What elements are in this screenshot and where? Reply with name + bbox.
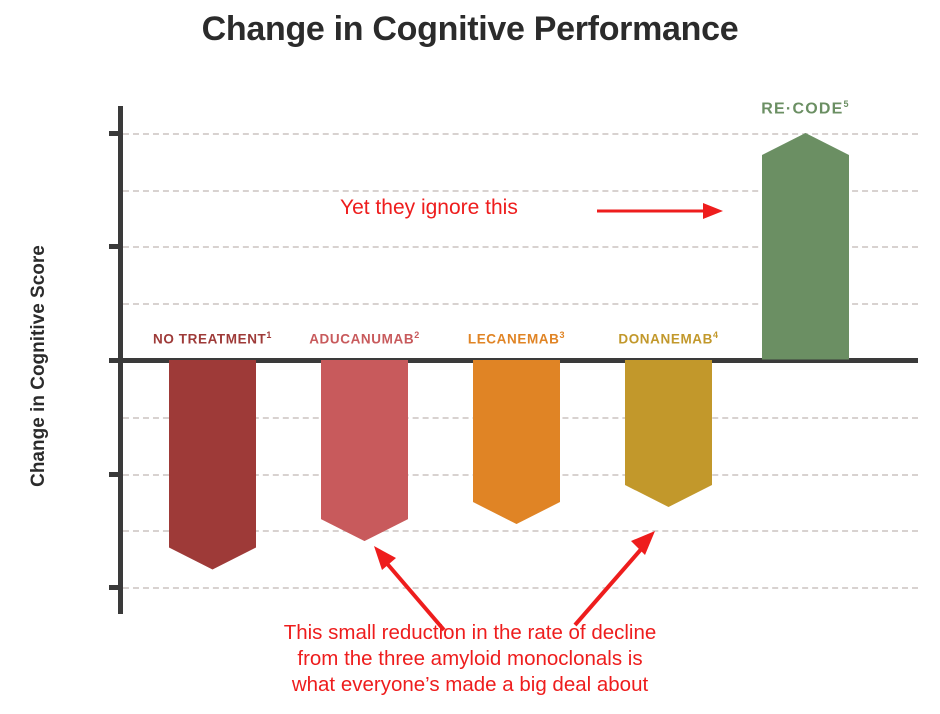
- y-tick-mark: [109, 585, 123, 590]
- annotation-bottom: This small reduction in the rate of decl…: [0, 620, 940, 699]
- bar-label-re-code: RE·CODE5: [706, 99, 906, 118]
- bar-donanemab: [625, 360, 712, 507]
- y-tick-mark: [109, 131, 123, 136]
- bar-aducanumab: [321, 360, 408, 541]
- y-axis-title: Change in Cognitive Score: [28, 156, 50, 576]
- bar-label-donanemab: DONANEMAB4: [569, 330, 769, 347]
- plot-area: 420-2-4 NO TREATMENT1ADUCANUMAB2LECANEMA…: [118, 110, 918, 610]
- bar-lecanemab: [473, 360, 560, 524]
- gridline: [123, 587, 918, 589]
- arrow-to-donanemab-icon: [565, 525, 660, 630]
- y-tick-mark: [109, 472, 123, 477]
- y-tick-mark: [109, 244, 123, 249]
- bar-no-treatment: [169, 360, 256, 570]
- arrow-to-recode-icon: [595, 196, 725, 226]
- annotation-line: what everyone’s made a big deal about: [0, 672, 940, 698]
- bar-re-code: [762, 133, 849, 360]
- chart-page: Change in Cognitive Performance Change i…: [0, 0, 940, 714]
- annotation-top: Yet they ignore this: [340, 195, 518, 221]
- chart-title: Change in Cognitive Performance: [0, 10, 940, 49]
- annotation-line: This small reduction in the rate of decl…: [0, 620, 940, 646]
- annotation-line: from the three amyloid monoclonals is: [0, 646, 940, 672]
